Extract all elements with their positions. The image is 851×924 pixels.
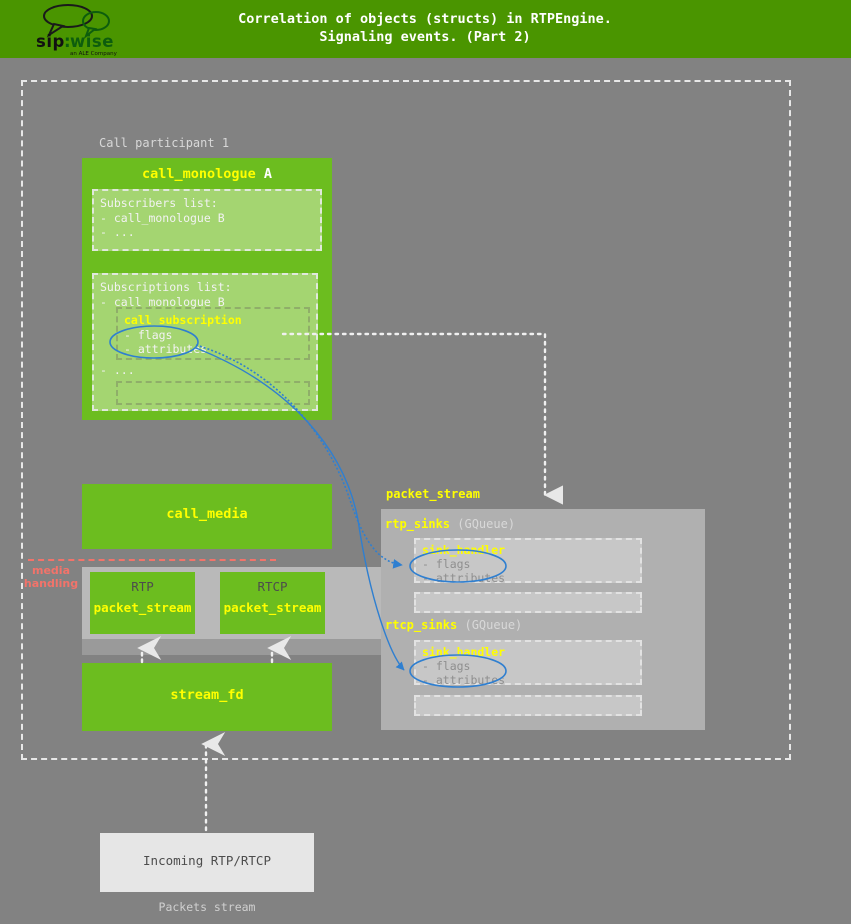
- rtp-kind-label: RTP: [90, 579, 195, 594]
- incoming-rtp-rtcp-label: Incoming RTP/RTCP: [100, 853, 314, 868]
- rtcp-sinks-name: rtcp_sinks: [385, 618, 457, 632]
- page-header: sip : wise an ALE Company Correlation of…: [0, 0, 851, 60]
- title-line-1: Correlation of objects (structs) in RTPE…: [130, 10, 720, 28]
- packets-stream-caption: Packets stream: [100, 900, 314, 914]
- rtcp-sink-handler-box: sink_handler - flags - attributes: [414, 640, 642, 685]
- media-handling-divider: [28, 559, 276, 561]
- svg-text:sip: sip: [36, 32, 65, 51]
- call-subscription-title: call_subscription: [124, 313, 302, 328]
- packet-stream-container: rtp_sinks (GQueue) sink_handler - flags …: [381, 509, 705, 730]
- subscribers-item-0: - call_monologue B: [100, 211, 314, 226]
- call-subscription-field-attributes: - attributes: [124, 342, 302, 357]
- packet-stream-label: packet_stream: [386, 487, 480, 501]
- subscribers-item-1: - ...: [100, 225, 314, 240]
- rtp-sink-handler-box: sink_handler - flags - attributes: [414, 538, 642, 583]
- call-monologue-suffix: A: [256, 166, 272, 182]
- rtcp-sinks-type: (GQueue): [457, 618, 522, 632]
- subscriptions-heading: Subscriptions list:: [100, 280, 310, 295]
- rtcp-sink-empty-slot: [414, 695, 642, 716]
- media-handling-line-1: media: [22, 564, 80, 577]
- rtcp-sink-handler-attributes: - attributes: [422, 673, 634, 687]
- media-handling-label: media handling: [22, 564, 80, 590]
- subscribers-heading: Subscribers list:: [100, 196, 314, 211]
- rtp-sinks-name: rtp_sinks: [385, 517, 450, 531]
- rtp-sink-handler-flags: - flags: [422, 557, 634, 571]
- incoming-rtp-rtcp-box: Incoming RTP/RTCP: [100, 833, 314, 892]
- call-monologue-a-box: call_monologue A Subscribers list: - cal…: [82, 158, 332, 420]
- call-monologue-a-title: call_monologue A: [82, 166, 332, 182]
- media-handling-line-2: handling: [22, 577, 80, 590]
- title-line-2: Signaling events. (Part 2): [130, 28, 720, 46]
- subscribers-list-box: Subscribers list: - call_monologue B - .…: [92, 189, 322, 251]
- stream-fd-box: stream_fd: [82, 663, 332, 731]
- rtp-packet-stream-box: RTP packet_stream: [90, 572, 195, 634]
- call-subscription-box: call_subscription - flags - attributes: [116, 307, 310, 360]
- rtp-sink-empty-slot: [414, 592, 642, 613]
- rtcp-sink-handler-title: sink_handler: [422, 645, 634, 659]
- diagram-canvas: sip : wise an ALE Company Correlation of…: [0, 0, 851, 924]
- svg-text:wise: wise: [70, 32, 114, 51]
- rtp-sinks-label: rtp_sinks (GQueue): [385, 517, 515, 531]
- call-media-box: call_media: [82, 484, 332, 549]
- rtcp-packet-stream-box: RTCP packet_stream: [220, 572, 325, 634]
- rtcp-sinks-label: rtcp_sinks (GQueue): [385, 618, 522, 632]
- svg-text:an ALE Company: an ALE Company: [70, 51, 118, 56]
- rtcp-kind-label: RTCP: [220, 579, 325, 594]
- rtp-struct-label: packet_stream: [90, 600, 195, 615]
- call-subscription-field-flags: - flags: [124, 328, 302, 343]
- subscriptions-list-box: Subscriptions list: - call monologue B c…: [92, 273, 318, 411]
- call-media-title: call_media: [82, 506, 332, 522]
- rtp-sink-handler-title: sink_handler: [422, 543, 634, 557]
- call-monologue-struct-name: call_monologue: [142, 166, 256, 182]
- empty-subscription-placeholder: [116, 381, 310, 405]
- rtcp-struct-label: packet_stream: [220, 600, 325, 615]
- rtp-sink-handler-attributes: - attributes: [422, 571, 634, 585]
- call-participant-label: Call participant 1: [99, 136, 229, 150]
- rtcp-sink-handler-flags: - flags: [422, 659, 634, 673]
- stream-fd-title: stream_fd: [82, 687, 332, 703]
- page-title: Correlation of objects (structs) in RTPE…: [130, 10, 720, 46]
- subscriptions-more: - ...: [100, 363, 135, 378]
- rtp-sinks-type: (GQueue): [450, 517, 515, 531]
- sipwise-logo: sip : wise an ALE Company: [32, 2, 124, 56]
